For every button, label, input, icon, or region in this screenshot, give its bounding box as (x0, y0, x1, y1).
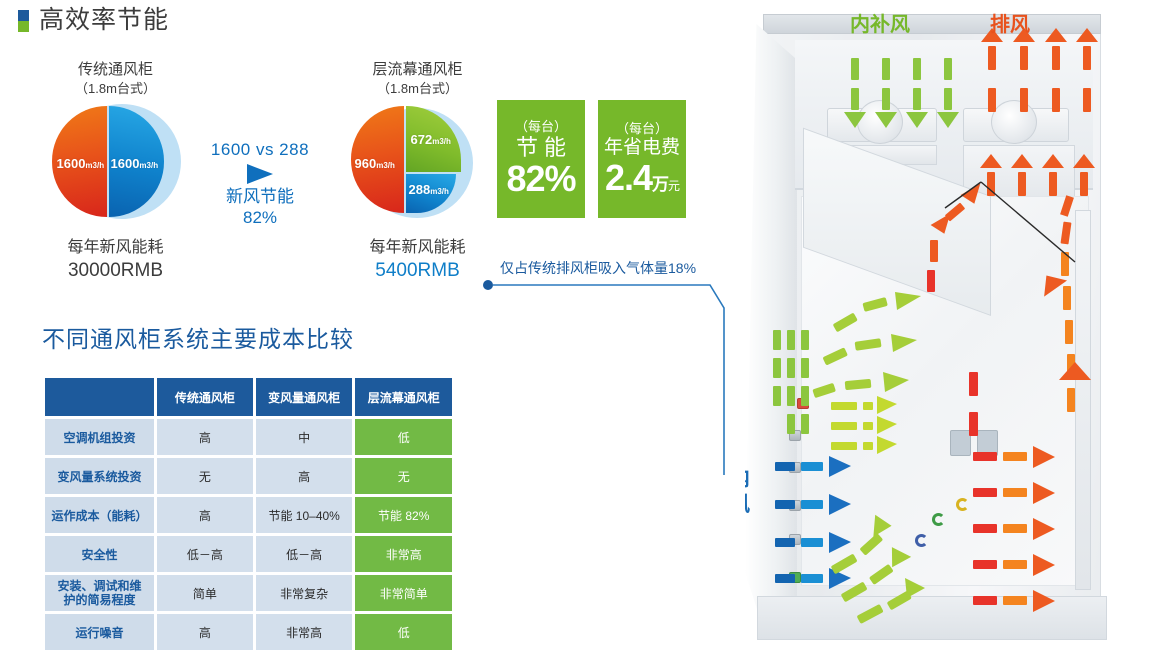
cell-traditional: 低－高 (157, 536, 253, 572)
row-label: 运行噪音 (45, 614, 154, 650)
pie-right: 960m3/h 672m3/h 288m3/h (343, 104, 493, 219)
cell-traditional: 高 (157, 614, 253, 650)
table-row: 安装、调试和维 护的简易程度 简单 非常复杂 非常简单 (45, 575, 452, 611)
badge-energy-saving: （每台） 节 能 82% (497, 100, 585, 218)
table-header-laminar: 层流幕通风柜 (355, 378, 452, 416)
badge-annual-savings: （每台） 年省电费 2.4万元 (598, 100, 686, 218)
cell-vav: 中 (256, 419, 353, 455)
exhaust-right-column (1059, 252, 1091, 412)
page-title: 高效率节能 (39, 8, 169, 33)
row-label: 空调机组投资 (45, 419, 154, 455)
cost-comparison-table: 传统通风柜 变风量通风柜 层流幕通风柜 空调机组投资 高 中 低 变风量系统投资… (42, 375, 455, 653)
row-label: 变风量系统投资 (45, 458, 154, 494)
exhaust-chamber-dashes (927, 270, 978, 436)
chart-left-footer: 每年新风能耗 30000RMB (28, 237, 203, 284)
table-header-vav: 变风量通风柜 (256, 378, 353, 416)
bullet-marker-icon (18, 10, 29, 32)
row-label: 安装、调试和维 护的简易程度 (45, 575, 154, 611)
laminar-jets (831, 396, 897, 454)
exhaust-up-arrows-top (981, 28, 1098, 112)
arrow-right-icon (247, 164, 273, 184)
chart-traditional-hood: 传统通风柜 （1.8m台式） 1600m3/h 1600m3/h 每年新风能耗 … (28, 60, 203, 284)
exhaust-exit-jets (973, 446, 1055, 612)
fume-hood-diagram: 内补风 排风 室内 新风 (745, 0, 1149, 660)
table-row: 空调机组投资 高 中 低 (45, 419, 452, 455)
table-row: 变风量系统投资 无 高 无 (45, 458, 452, 494)
label-supply-air: 内补风 (850, 8, 910, 37)
cell-traditional: 高 (157, 419, 253, 455)
table-title: 不同通风柜系统主要成本比较 (42, 320, 354, 354)
cell-vav: 低－高 (256, 536, 353, 572)
row-label: 安全性 (45, 536, 154, 572)
supply-down-arrows (844, 58, 959, 128)
pie-right-blue-value: 288m3/h (409, 182, 449, 197)
chart-right-caption: 层流幕通风柜 （1.8m台式） (330, 60, 505, 98)
chart-left-caption: 传统通风柜 （1.8m台式） (28, 60, 203, 98)
pie-right-red-value: 960m3/h (355, 156, 395, 171)
label-room-air: 室内 新风 (745, 466, 750, 519)
table-row: 运作成本（能耗） 高 节能 10–40% 节能 82% (45, 497, 452, 533)
cell-traditional: 高 (157, 497, 253, 533)
exhaust-up-arrows-duct (980, 154, 1095, 196)
table-row: 运行噪音 高 非常高 低 (45, 614, 452, 650)
badge-energy-value: 82% (506, 160, 575, 198)
table-row: 安全性 低－高 低－高 非常高 (45, 536, 452, 572)
cell-traditional: 简单 (157, 575, 253, 611)
cell-laminar: 低 (355, 419, 452, 455)
table-header-row: 传统通风柜 变风量通风柜 层流幕通风柜 (45, 378, 452, 416)
page-header: 高效率节能 (18, 8, 169, 33)
cell-vav: 非常高 (256, 614, 353, 650)
cell-vav: 节能 10–40% (256, 497, 353, 533)
infographic-page: 高效率节能 传统通风柜 （1.8m台式） 1600m3/h 1600m3/h 每… (0, 0, 1149, 660)
laminar-swirl-upper (812, 292, 921, 398)
pie-left-red-value: 1600m3/h (57, 156, 105, 171)
chart-laminar-hood: 层流幕通风柜 （1.8m台式） 960m3/h 672m3/h 288m3/h … (330, 60, 505, 284)
laminar-swirl-lower (831, 515, 925, 624)
pie-left: 1600m3/h 1600m3/h (41, 104, 191, 219)
cell-laminar: 无 (355, 458, 452, 494)
airflow-arrows (745, 0, 1149, 660)
cell-traditional: 无 (157, 458, 253, 494)
cell-vav: 高 (256, 458, 353, 494)
comparison-callout: 1600 vs 288 新风节能 82% (196, 140, 324, 229)
row-label: 运作成本（能耗） (45, 497, 154, 533)
annotation-leader-line (480, 270, 750, 490)
cell-laminar: 非常高 (355, 536, 452, 572)
pie-left-blue-value: 1600m3/h (111, 156, 159, 171)
label-exhaust-air: 排风 (990, 8, 1030, 37)
cell-vav: 非常复杂 (256, 575, 353, 611)
pie-right-green-value: 672m3/h (411, 132, 451, 147)
cell-laminar: 非常简单 (355, 575, 452, 611)
badge-savings-value: 2.4万元 (605, 159, 679, 197)
chart-right-footer: 每年新风能耗 5400RMB (330, 237, 505, 284)
cell-laminar: 节能 82% (355, 497, 452, 533)
cell-laminar: 低 (355, 614, 452, 650)
table-header-blank (45, 378, 154, 416)
supply-left-column (773, 330, 809, 434)
table-header-traditional: 传统通风柜 (157, 378, 253, 416)
